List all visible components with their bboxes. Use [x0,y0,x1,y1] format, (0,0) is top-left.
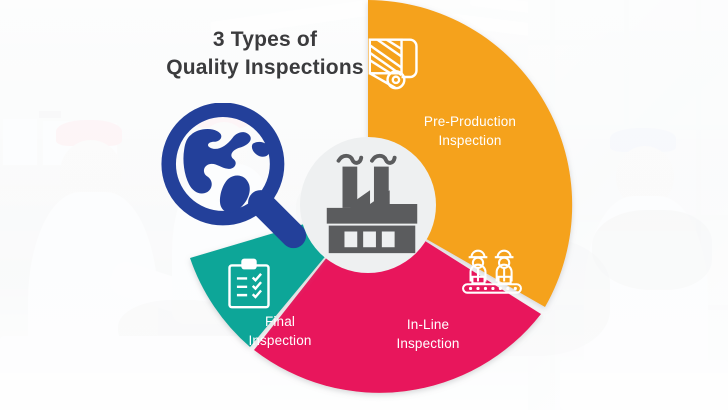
factory-icon [313,143,431,261]
label-line-1: Pre-Production [400,113,540,132]
globe-magnifier-icon [157,103,312,253]
assembly-line-workers-icon [459,246,525,302]
label-line-1: Final [225,313,335,332]
label-line-2: Inspection [225,332,335,351]
fabric-roll-icon [367,33,423,93]
infographic-canvas: 3 Types of Quality Inspections [0,0,728,410]
label-line-1: In-Line [358,316,498,335]
label-line-2: Inspection [358,335,498,354]
segment-label-in-line: In-Line Inspection [358,316,498,353]
segment-label-final: Final Inspection [225,313,335,350]
clipboard-checklist-icon [225,258,273,310]
